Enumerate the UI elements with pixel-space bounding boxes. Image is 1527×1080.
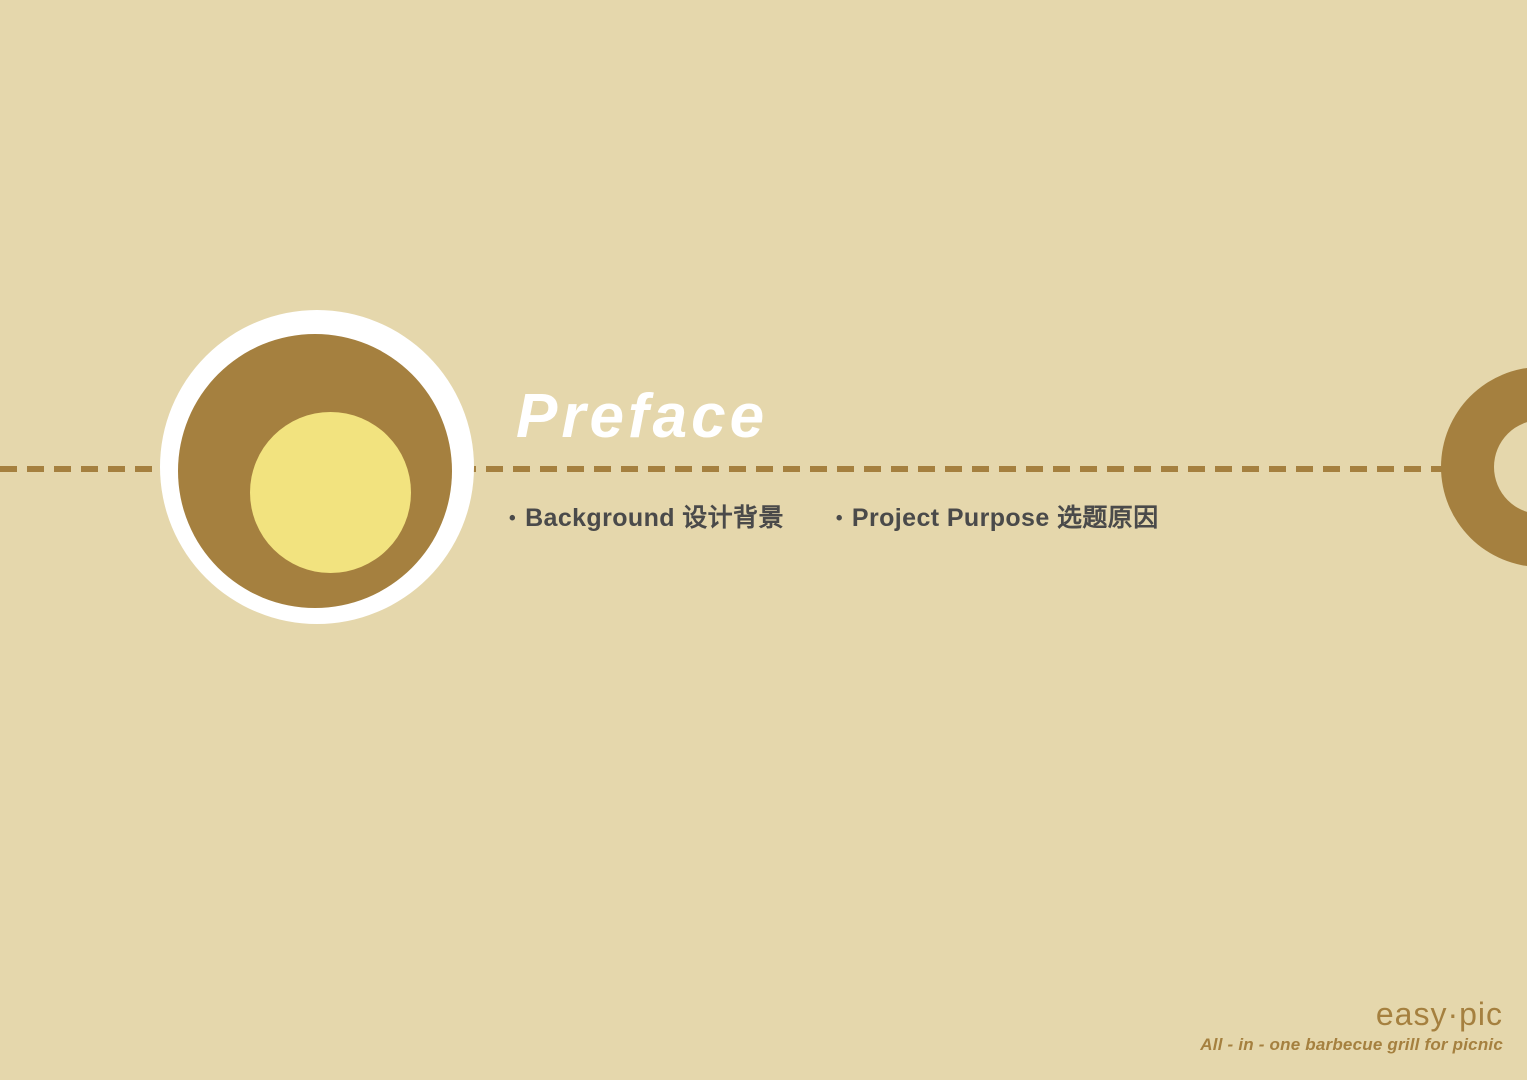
- concentric-circle-decoration: [160, 310, 474, 624]
- brand-name: easy·pic: [1200, 998, 1503, 1032]
- circle-core-yellow: [250, 412, 411, 573]
- circle-ring-brown: [178, 334, 452, 608]
- page-title: Preface: [516, 386, 768, 448]
- bullet-dot-icon: •: [509, 509, 516, 528]
- bullet-dot-icon: •: [836, 509, 843, 528]
- list-item: • Project Purpose 选题原因: [836, 498, 1159, 534]
- partial-ring-decoration: [1441, 367, 1527, 567]
- list-item: • Background 设计背景: [509, 498, 784, 534]
- brand-logo: easy·pic All - in - one barbecue grill f…: [1200, 998, 1503, 1056]
- list-item-label: Project Purpose 选题原因: [852, 498, 1159, 534]
- list-item-label: Background 设计背景: [525, 498, 784, 534]
- brand-tagline: All - in - one barbecue grill for picnic: [1200, 1034, 1503, 1056]
- agenda-bullet-list: • Background 设计背景 • Project Purpose 选题原因: [509, 498, 1159, 534]
- slide-canvas: Preface • Background 设计背景 • Project Purp…: [0, 0, 1527, 1080]
